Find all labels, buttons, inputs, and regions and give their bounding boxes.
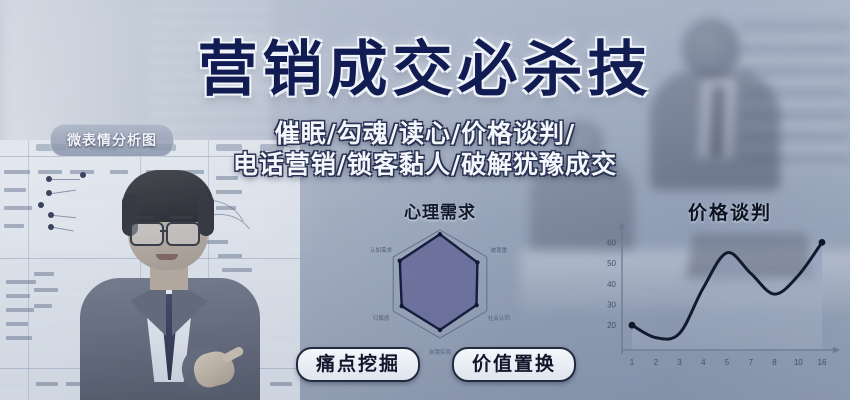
pill-pain-point[interactable]: 痛点挖掘 bbox=[296, 347, 420, 382]
line-chart-svg: 6050403020 12345781016 bbox=[580, 218, 842, 386]
presenter-eyebrow-right bbox=[171, 216, 193, 219]
svg-text:8: 8 bbox=[772, 358, 777, 367]
svg-text:认知需求: 认知需求 bbox=[370, 246, 393, 254]
svg-text:4: 4 bbox=[701, 358, 706, 367]
svg-text:归属感: 归属感 bbox=[373, 314, 390, 322]
svg-text:60: 60 bbox=[607, 238, 616, 247]
svg-text:2: 2 bbox=[654, 358, 659, 367]
headline-block: 营销成交必杀技 催眠/勾魂/读心/价格谈判/ 电话营销/锁客黏人/破解犹豫成交 bbox=[0, 40, 850, 180]
svg-text:3: 3 bbox=[677, 358, 682, 367]
svg-text:16: 16 bbox=[818, 358, 827, 367]
radar-chart-svg: 安全被尊重社会认同自我实现归属感认知需求 bbox=[330, 216, 550, 362]
pill-value-exchange[interactable]: 价值置换 bbox=[452, 347, 576, 382]
svg-text:社会认同: 社会认同 bbox=[488, 314, 511, 322]
svg-text:20: 20 bbox=[607, 321, 616, 330]
presenter-figure bbox=[72, 170, 272, 400]
glasses-icon bbox=[130, 222, 164, 246]
line-chart-y-tick-labels: 6050403020 bbox=[607, 238, 616, 330]
presenter-mouth bbox=[156, 254, 178, 260]
svg-text:5: 5 bbox=[725, 358, 730, 367]
svg-text:安全: 安全 bbox=[434, 216, 446, 220]
radar-chart: 心理需求 安全被尊重社会认同自我实现归属感认知需求 bbox=[330, 198, 550, 363]
svg-text:10: 10 bbox=[794, 358, 803, 367]
svg-text:50: 50 bbox=[607, 259, 616, 268]
line-chart-x-tick-labels: 12345781016 bbox=[630, 358, 827, 367]
presenter-eyebrow-left bbox=[133, 216, 155, 219]
line-chart-area bbox=[632, 242, 822, 350]
presenter-hair-side-right bbox=[198, 194, 214, 236]
glasses-bridge bbox=[160, 230, 168, 232]
page-title: 营销成交必杀技 bbox=[0, 40, 850, 100]
svg-text:30: 30 bbox=[607, 301, 616, 310]
line-chart: 价格谈判 6050403020 12345781016 bbox=[580, 198, 842, 388]
svg-text:40: 40 bbox=[607, 280, 616, 289]
glasses-lens-right bbox=[166, 222, 200, 246]
svg-text:自我实现: 自我实现 bbox=[429, 348, 452, 356]
svg-text:被尊重: 被尊重 bbox=[491, 246, 508, 254]
radar-series-polygon bbox=[400, 234, 478, 330]
status-badge: 微表情分析图 bbox=[50, 124, 174, 157]
svg-text:1: 1 bbox=[630, 358, 635, 367]
svg-text:7: 7 bbox=[749, 358, 754, 367]
marketing-banner: 营销成交必杀技 催眠/勾魂/读心/价格谈判/ 电话营销/锁客黏人/破解犹豫成交 … bbox=[0, 0, 850, 400]
